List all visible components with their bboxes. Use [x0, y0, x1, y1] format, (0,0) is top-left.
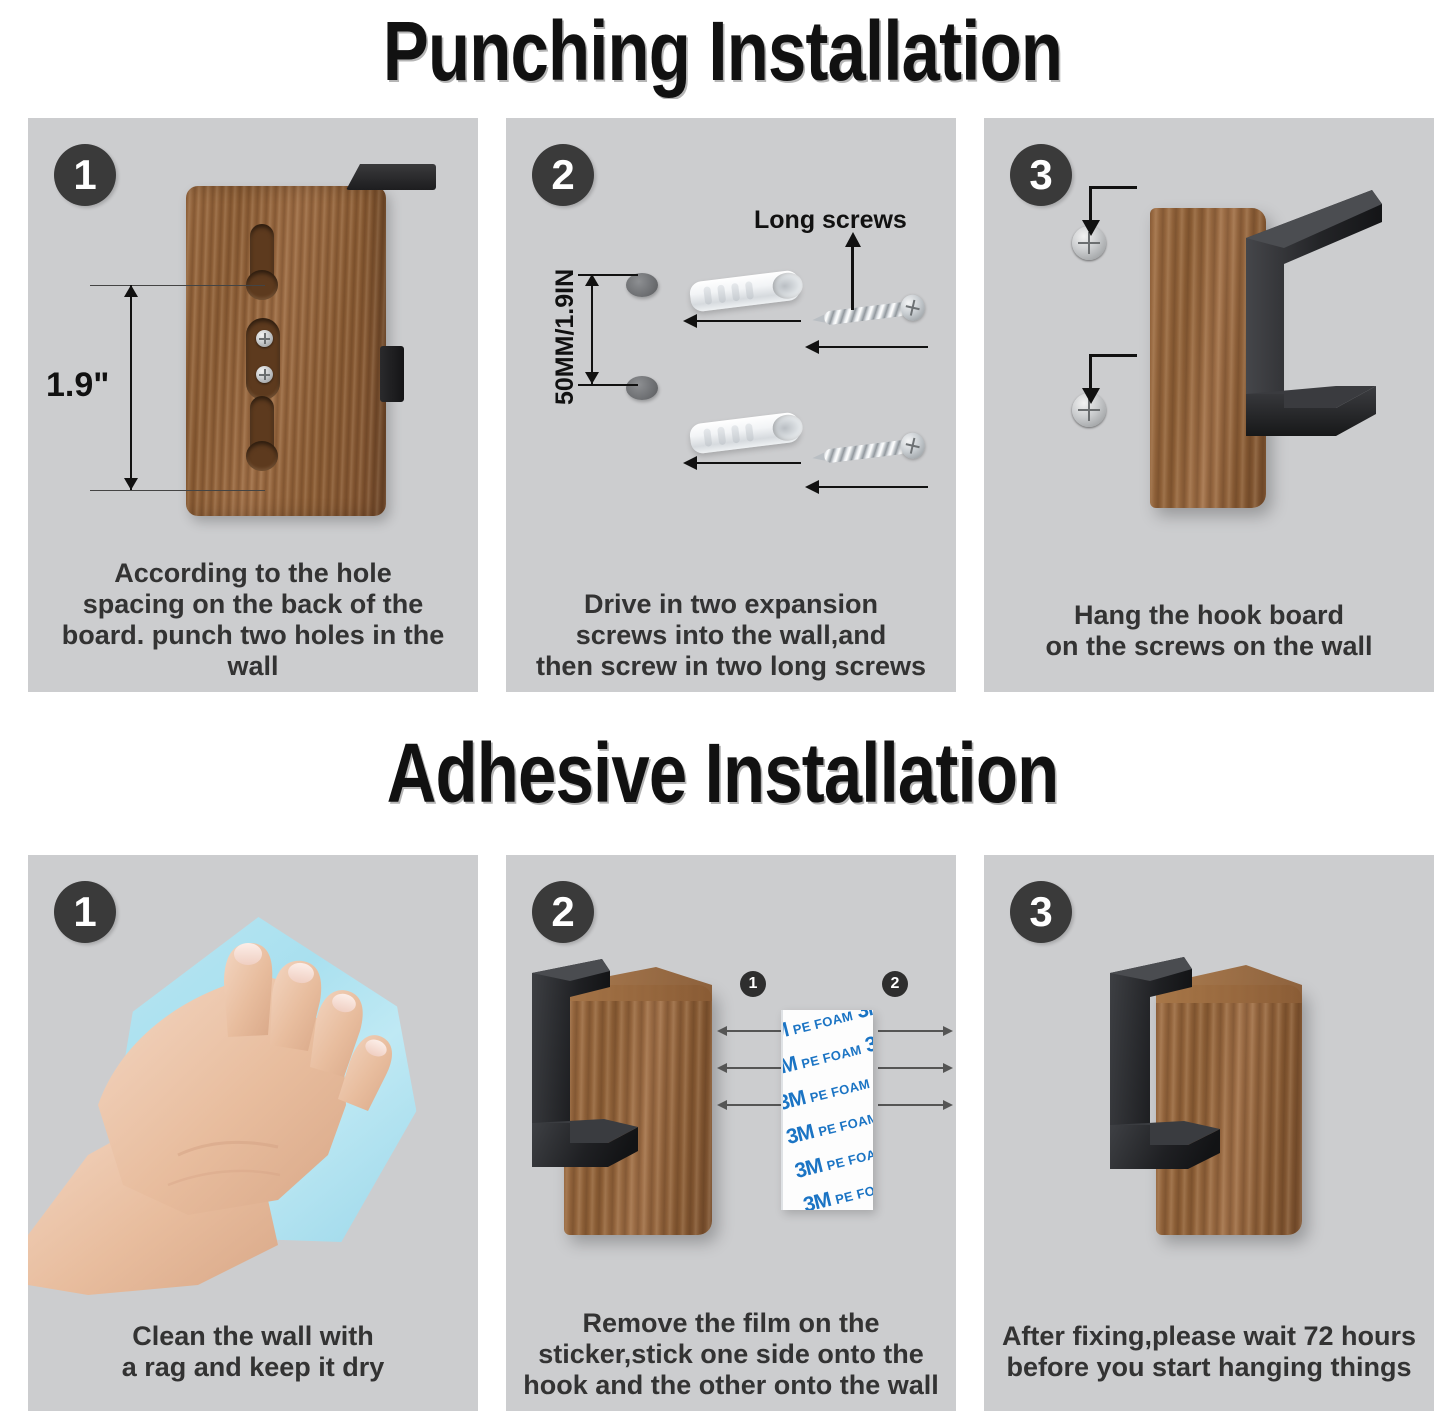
apply-arrow-right-3: [878, 1104, 944, 1106]
wall-anchor-top: [689, 269, 802, 312]
step-panel-adhesive-2: 1 2 3M PE FOAM 3M PE FOAM 3M PE FOAM 3M …: [506, 855, 956, 1411]
long-screw-top: [823, 294, 917, 331]
step-badge-2: 2: [532, 144, 594, 206]
spacing-label: 50MM/1.9IN: [551, 269, 580, 405]
caption-line: screws into the wall,and: [514, 620, 948, 651]
screw-head-upper: [256, 330, 273, 347]
keyhole-round-bottom: [246, 441, 278, 471]
step-caption-adhesive-3: After fixing,please wait 72 hours before…: [992, 1321, 1426, 1383]
screw-tip: [812, 315, 825, 324]
spacing-extension-bottom: [578, 384, 638, 386]
side-marker-1: 1: [740, 971, 766, 997]
step-badge-5: 2: [532, 881, 594, 943]
caption-line: before you start hanging things: [992, 1352, 1426, 1383]
screw-insert-arrow-bottom: [818, 486, 928, 488]
screw-head-lower: [256, 366, 273, 383]
dimension-extension-bottom: [90, 490, 265, 491]
step-caption-punching-3: Hang the hook board on the screws on the…: [992, 600, 1426, 662]
dimension-extension-top: [90, 285, 265, 286]
wall-hole-bottom: [626, 376, 658, 400]
long-screws-label: Long screws: [754, 206, 907, 235]
caption-line: Drive in two expansion: [514, 589, 948, 620]
side-marker-2: 2: [882, 971, 908, 997]
caption-line: spacing on the back of the: [36, 589, 470, 620]
caption-line: According to the hole: [36, 558, 470, 589]
dimension-label: 1.9": [46, 366, 109, 405]
infographic-page: Punching Installation 1.9" 1: [0, 0, 1445, 1419]
dimension-arrow-up: [124, 285, 138, 297]
caption-line: Hang the hook board: [992, 600, 1426, 631]
long-screws-pointer: [851, 246, 854, 310]
step-caption-adhesive-2: Remove the film on the sticker,stick one…: [514, 1308, 948, 1401]
step-panel-punching-1: 1.9" 1 According to the hole spacing on …: [28, 118, 478, 692]
step-badge-4: 1: [54, 881, 116, 943]
screw-tip: [812, 453, 825, 462]
spacing-arrow-up: [585, 274, 599, 286]
step-panel-punching-2: 50MM/1.9IN Long screws: [506, 118, 956, 692]
wood-board: [186, 186, 386, 516]
step-caption-punching-2: Drive in two expansion screws into the w…: [514, 589, 948, 682]
step-badge-1: 1: [54, 144, 116, 206]
screw-head: [899, 431, 926, 460]
section-title-adhesive: Adhesive Installation: [130, 718, 1315, 828]
hook-arm-top: [346, 164, 436, 190]
caption-line: then screw in two long screws: [514, 651, 948, 682]
caption-line: After fixing,please wait 72 hours: [992, 1321, 1426, 1352]
apply-arrow-right-1: [878, 1030, 944, 1032]
tape-pattern: 3M PE FOAM 3M PE FOAM 3M PE FOAM 3M PE F…: [781, 1010, 873, 1210]
long-screw-bottom: [823, 432, 917, 469]
caption-line: board. punch two holes in the wall: [36, 620, 470, 682]
step-panel-adhesive-1: 1 Clean the wall with a rag and keep it …: [28, 855, 478, 1411]
spacing-dimension-line: [591, 274, 593, 384]
caption-line: sticker,stick one side onto the: [514, 1339, 948, 1370]
anchor-insert-arrow-bottom: [696, 462, 801, 464]
step-caption-adhesive-1: Clean the wall with a rag and keep it dr…: [36, 1321, 470, 1383]
caption-line: hook and the other onto the wall: [514, 1370, 948, 1401]
screw-head: [899, 293, 926, 322]
dimension-arrow-down: [124, 478, 138, 490]
step-panel-punching-3: 3 Hang the hook board on the screws on t…: [984, 118, 1434, 692]
spacing-arrow-down: [585, 372, 599, 384]
step-caption-punching-1: According to the hole spacing on the bac…: [36, 558, 470, 682]
caption-line: on the screws on the wall: [992, 631, 1426, 662]
caption-line: Clean the wall with: [36, 1321, 470, 1352]
caption-line: a rag and keep it dry: [36, 1352, 470, 1383]
caption-line: Remove the film on the: [514, 1308, 948, 1339]
hook-arm-lower: [380, 346, 404, 402]
section-title-punching: Punching Installation: [130, 0, 1315, 106]
screw-insert-arrow-top: [818, 346, 928, 348]
step-panel-adhesive-3: 3 After fixing,please wait 72 hours befo…: [984, 855, 1434, 1411]
dimension-line: [130, 285, 132, 490]
step-badge-6: 3: [1010, 881, 1072, 943]
wall-hole-top: [626, 273, 658, 297]
wall-anchor-bottom: [689, 411, 802, 454]
step-badge-3: 3: [1010, 144, 1072, 206]
apply-arrow-right-2: [878, 1067, 944, 1069]
anchor-insert-arrow-top: [696, 320, 801, 322]
adhesive-tape-3m: 3M PE FOAM 3M PE FOAM 3M PE FOAM 3M PE F…: [781, 1010, 873, 1210]
